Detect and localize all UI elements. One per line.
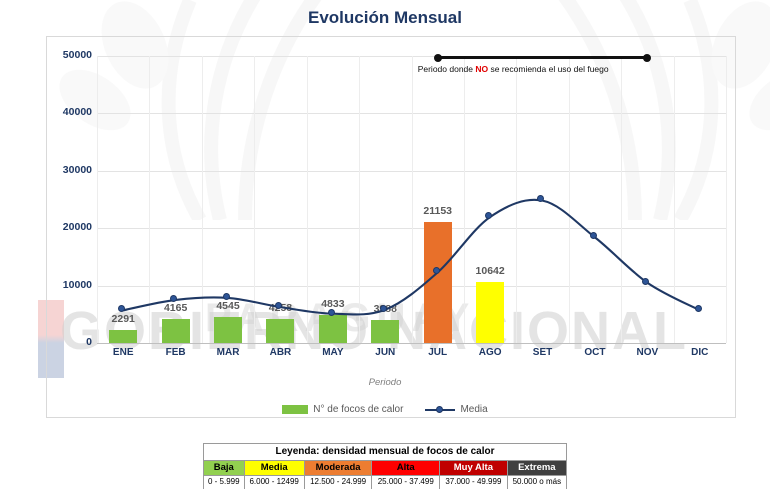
legend-level-baja: Baja [204, 460, 245, 476]
legend-item-line: Media [425, 404, 487, 415]
legend-level-media: Media [244, 460, 304, 476]
legend-caption-row: Leyenda: densidad mensual de focos de ca… [204, 444, 567, 461]
legend-level-alta: Alta [372, 460, 440, 476]
y-axis-title: N° de focos de calor [0, 64, 3, 150]
legend-swatch-green [282, 405, 308, 414]
chart-page: PARAGUAY GOBIERNO NACIONAL Evolución Men… [0, 0, 770, 489]
legend-range-row: 0 - 5.9996.000 - 1249912.500 - 24.99925.… [204, 476, 567, 489]
line-point-oct [590, 232, 597, 239]
chart-title: Evolución Mensual [0, 8, 770, 28]
x-tick-label-ago: AGO [460, 347, 520, 358]
annotation-bracket-line [438, 56, 648, 59]
line-point-jun [380, 305, 387, 312]
legend-label-line: Media [460, 404, 487, 415]
annotation-text: Periodo donde NO se recomienda el uso de… [418, 64, 609, 74]
x-tick-label-dic: DIC [670, 347, 730, 358]
y-tick-label: 50000 [48, 49, 92, 61]
line-point-ago [485, 212, 492, 219]
x-tick-label-jun: JUN [355, 347, 415, 358]
y-tick-label: 20000 [48, 221, 92, 233]
legend-header-row: BajaMediaModeradaAltaMuy AltaExtrema [204, 460, 567, 476]
gridline [97, 343, 726, 344]
legend-range-baja: 0 - 5.999 [204, 476, 245, 489]
x-tick-label-jul: JUL [408, 347, 468, 358]
series-legend: N° de focos de calor Media [0, 404, 770, 415]
line-point-dic [695, 305, 702, 312]
legend-range-moderada: 12.500 - 24.999 [304, 476, 372, 489]
media-line-series [97, 56, 726, 343]
legend-level-moderada: Moderada [304, 460, 372, 476]
gridline-vertical [726, 56, 727, 343]
annotation-endpoint-start [434, 54, 442, 62]
line-point-may [328, 309, 335, 316]
legend-level-muy-alta: Muy Alta [440, 460, 508, 476]
legend-caption: Leyenda: densidad mensual de focos de ca… [204, 444, 567, 461]
x-tick-label-may: MAY [303, 347, 363, 358]
x-tick-label-feb: FEB [146, 347, 206, 358]
x-tick-label-ene: ENE [93, 347, 153, 358]
y-tick-label: 0 [48, 336, 92, 348]
y-tick-label: 30000 [48, 164, 92, 176]
y-tick-label: 10000 [48, 279, 92, 291]
line-point-nov [642, 278, 649, 285]
x-tick-label-set: SET [513, 347, 573, 358]
legend-range-media: 6.000 - 12499 [244, 476, 304, 489]
annotation-endpoint-end [643, 54, 651, 62]
x-tick-label-mar: MAR [198, 347, 258, 358]
x-tick-label-nov: NOV [617, 347, 677, 358]
y-tick-label: 40000 [48, 106, 92, 118]
x-axis-title: Periodo [0, 377, 770, 388]
legend-swatch-line [425, 405, 455, 415]
density-legend-table: Leyenda: densidad mensual de focos de ca… [203, 443, 567, 489]
legend-item-bars: N° de focos de calor [282, 404, 403, 415]
line-point-jul [433, 267, 440, 274]
plot-area: 2291416545454258483339882115310642 [97, 56, 726, 343]
legend-range-muy-alta: 37.000 - 49.999 [440, 476, 508, 489]
legend-range-extrema: 50.000 o más [507, 476, 566, 489]
x-tick-label-abr: ABR [250, 347, 310, 358]
legend-range-alta: 25.000 - 37.499 [372, 476, 440, 489]
legend-level-extrema: Extrema [507, 460, 566, 476]
x-tick-label-oct: OCT [565, 347, 625, 358]
line-point-mar [223, 293, 230, 300]
legend-label-bars: N° de focos de calor [313, 404, 403, 415]
